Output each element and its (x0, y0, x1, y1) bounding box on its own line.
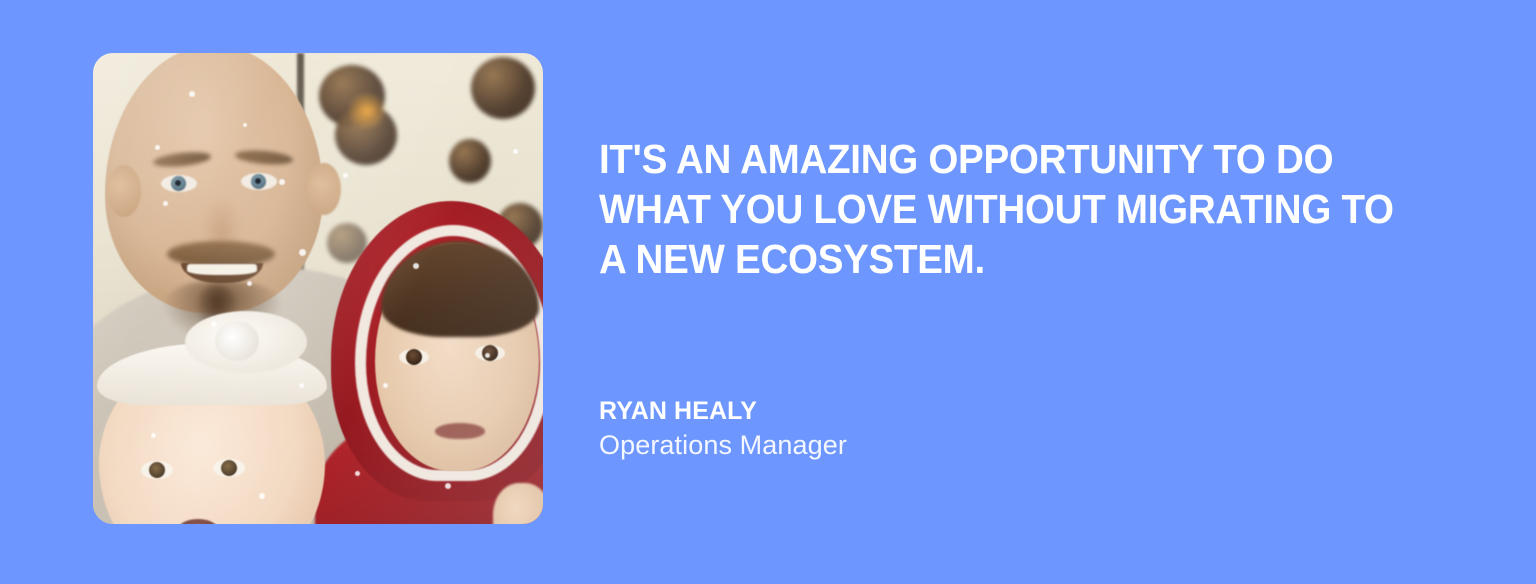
snow-fleck (247, 281, 252, 286)
snow-fleck (243, 123, 247, 127)
snow-fleck (513, 149, 518, 154)
man-face (105, 53, 323, 313)
snow-fleck (299, 383, 304, 388)
man-ear (107, 165, 141, 217)
ornament-decor (471, 57, 535, 119)
toddler-eye (475, 345, 505, 361)
man-eye (241, 173, 277, 190)
snow-fleck (163, 201, 168, 206)
photo-scene (93, 53, 543, 524)
snow-fleck (485, 353, 490, 358)
snow-fleck (445, 483, 451, 489)
baby-eye (141, 461, 173, 479)
snow-fleck (259, 493, 265, 499)
author-name: RYAN HEALY (599, 396, 1479, 426)
man-ear (307, 163, 341, 215)
baby-eye (213, 459, 245, 477)
snow-fleck (355, 471, 360, 476)
man-eyebrow (235, 148, 294, 166)
man-mouth (181, 263, 263, 283)
snow-fleck (151, 433, 156, 438)
author-role: Operations Manager (599, 428, 1479, 462)
ornament-decor (449, 139, 491, 183)
snow-fleck (343, 173, 348, 178)
snow-fleck (413, 263, 419, 269)
man-eyebrow (152, 150, 211, 169)
snow-fleck (279, 179, 285, 185)
snow-fleck (383, 383, 388, 388)
toddler-eye (399, 349, 429, 365)
snow-fleck (189, 91, 195, 97)
snow-fleck (211, 321, 217, 327)
snow-fleck (299, 249, 306, 256)
toddler-mouth (435, 423, 485, 439)
baby-bow (185, 311, 307, 373)
snow-fleck (155, 145, 160, 150)
testimonial-content: IT'S AN AMAZING OPPORTUNITY TO DO WHAT Y… (599, 53, 1479, 462)
testimonial-card: IT'S AN AMAZING OPPORTUNITY TO DO WHAT Y… (0, 0, 1536, 584)
ornament-highlight (345, 93, 389, 129)
quote-text: IT'S AN AMAZING OPPORTUNITY TO DO WHAT Y… (599, 134, 1426, 284)
man-eye (161, 175, 197, 192)
attribution: RYAN HEALY Operations Manager (599, 396, 1479, 462)
author-photo (93, 53, 543, 524)
